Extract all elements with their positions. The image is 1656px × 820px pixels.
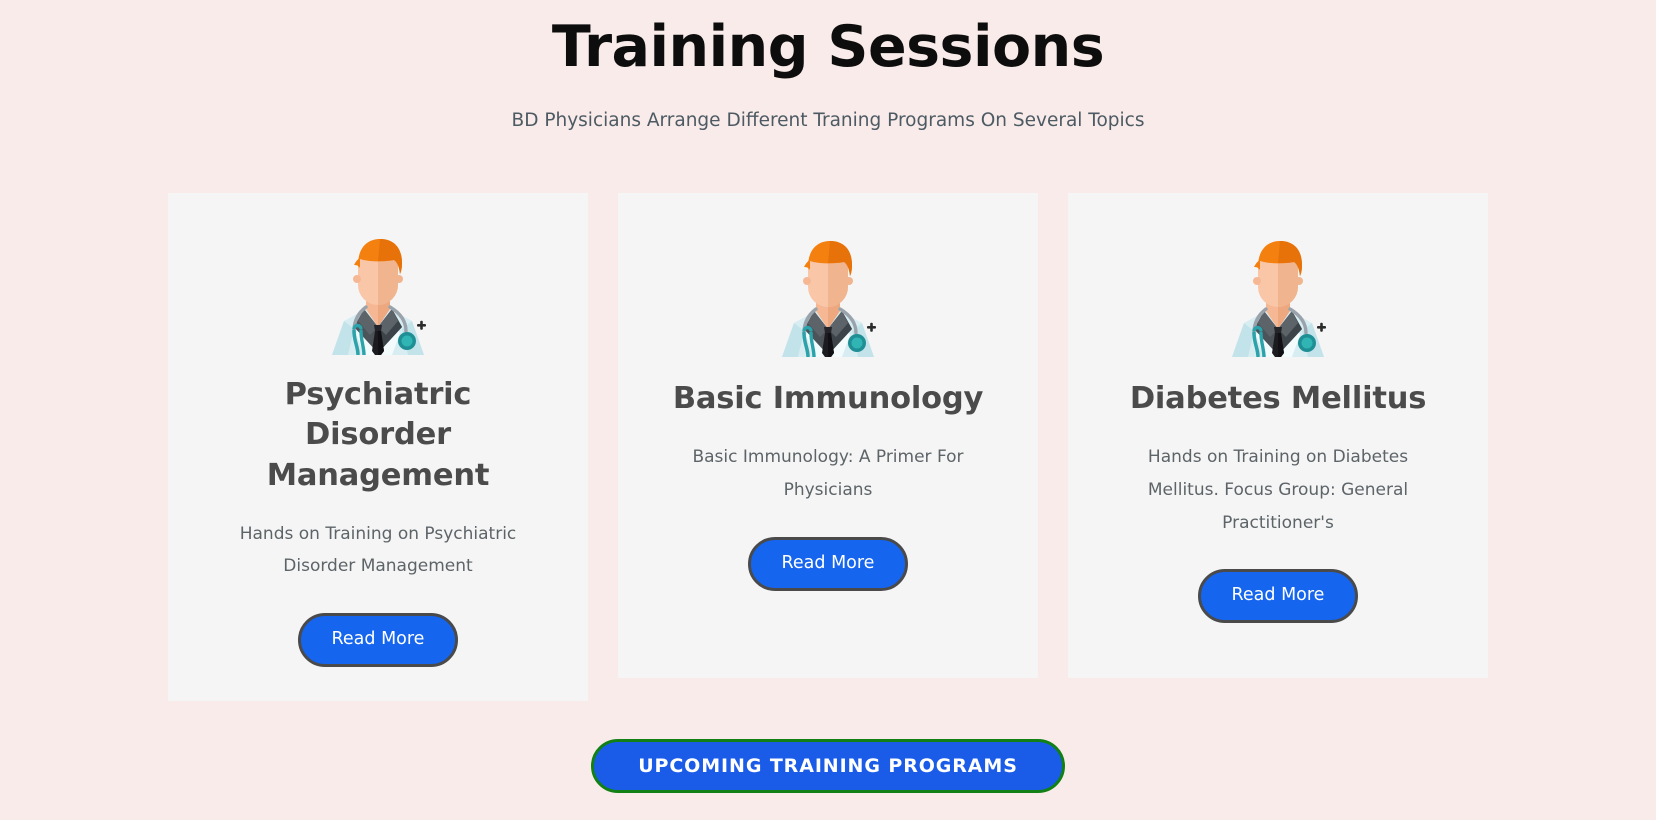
training-card[interactable]: Basic Immunology Basic Immunology: A Pri… (618, 193, 1038, 678)
section-header: Training Sessions BD Physicians Arrange … (0, 0, 1656, 135)
read-more-button[interactable]: Read More (748, 537, 908, 591)
doctor-avatar-icon (314, 229, 442, 355)
training-cards-row: Psychiatric Disorder Management Hands on… (168, 193, 1488, 701)
cta-container: UPCOMING TRAINING PROGRAMS (0, 739, 1656, 793)
card-title: Psychiatric Disorder Management (213, 375, 543, 496)
training-card[interactable]: Psychiatric Disorder Management Hands on… (168, 193, 588, 701)
page-title: Training Sessions (0, 14, 1656, 81)
doctor-avatar-icon (1214, 231, 1342, 357)
training-card[interactable]: Diabetes Mellitus Hands on Training on D… (1068, 193, 1488, 678)
card-title: Basic Immunology (673, 379, 983, 419)
card-description: Hands on Training on Diabetes Mellitus. … (1113, 441, 1443, 539)
doctor-avatar-icon (764, 231, 892, 357)
card-title: Diabetes Mellitus (1130, 379, 1426, 419)
upcoming-training-programs-button[interactable]: UPCOMING TRAINING PROGRAMS (591, 739, 1065, 793)
card-description: Hands on Training on Psychiatric Disorde… (213, 518, 543, 583)
card-description: Basic Immunology: A Primer For Physician… (663, 441, 993, 506)
training-sessions-section: Training Sessions BD Physicians Arrange … (0, 0, 1656, 820)
read-more-button[interactable]: Read More (298, 613, 458, 667)
read-more-button[interactable]: Read More (1198, 569, 1358, 623)
section-subtitle: BD Physicians Arrange Different Traning … (0, 107, 1656, 135)
